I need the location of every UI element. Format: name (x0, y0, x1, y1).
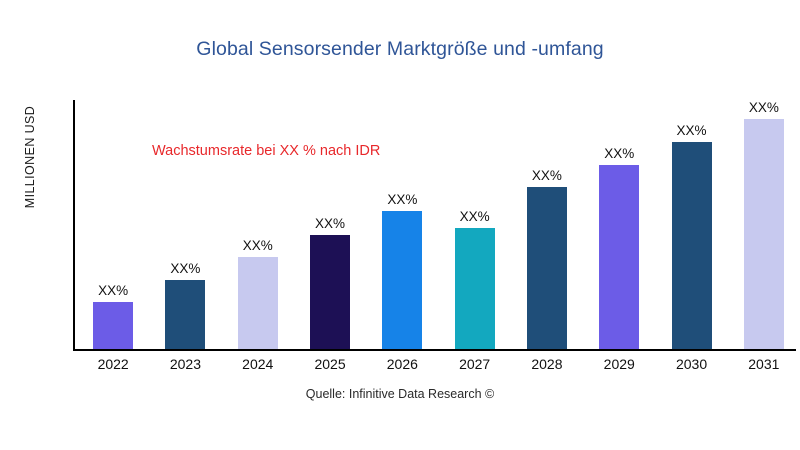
bar-value-label: XX% (460, 210, 490, 224)
bar-2031[interactable] (744, 119, 784, 349)
bar-2024[interactable] (238, 257, 278, 349)
x-tick-label-2026: 2026 (372, 356, 432, 372)
bar-2026[interactable] (382, 211, 422, 349)
chart-container: Global Sensorsender Marktgröße und -umfa… (0, 0, 800, 450)
bar-group[interactable]: XX% (382, 193, 422, 350)
bar-value-label: XX% (532, 169, 562, 183)
x-tick-label-2028: 2028 (517, 356, 577, 372)
source-caption: Quelle: Infinitive Data Research © (0, 387, 800, 401)
bar-2030[interactable] (672, 142, 712, 349)
bar-group[interactable]: XX% (238, 239, 278, 350)
bar-2025[interactable] (310, 235, 350, 349)
bar-value-label: XX% (98, 284, 128, 298)
bar-group[interactable]: XX% (599, 147, 639, 350)
bar-value-label: XX% (170, 262, 200, 276)
bar-group[interactable]: XX% (455, 210, 495, 350)
x-axis-line (73, 349, 796, 351)
bar-2022[interactable] (93, 302, 133, 349)
x-tick-label-2024: 2024 (228, 356, 288, 372)
bar-2028[interactable] (527, 187, 567, 349)
bar-value-label: XX% (387, 193, 417, 207)
bar-2023[interactable] (165, 280, 205, 349)
bar-value-label: XX% (677, 124, 707, 138)
bar-group[interactable]: XX% (744, 101, 784, 350)
growth-rate-annotation: Wachstumsrate bei XX % nach IDR (152, 143, 380, 159)
bar-value-label: XX% (243, 239, 273, 253)
x-tick-label-2025: 2025 (300, 356, 360, 372)
bar-group[interactable]: XX% (310, 217, 350, 350)
plot-area: XX%XX%XX%XX%XX%XX%XX%XX%XX%XX% (73, 100, 796, 351)
x-tick-label-2031: 2031 (734, 356, 794, 372)
x-tick-label-2029: 2029 (589, 356, 649, 372)
bar-group[interactable]: XX% (672, 124, 712, 350)
y-axis-label: MILLIONEN USD (23, 47, 37, 267)
bar-group[interactable]: XX% (93, 284, 133, 350)
x-tick-label-2027: 2027 (445, 356, 505, 372)
x-tick-label-2023: 2023 (155, 356, 215, 372)
bar-value-label: XX% (315, 217, 345, 231)
bar-group[interactable]: XX% (527, 169, 567, 350)
x-tick-label-2030: 2030 (662, 356, 722, 372)
bar-value-label: XX% (604, 147, 634, 161)
bar-value-label: XX% (749, 101, 779, 115)
bar-2029[interactable] (599, 165, 639, 349)
bar-group[interactable]: XX% (165, 262, 205, 350)
chart-title: Global Sensorsender Marktgröße und -umfa… (0, 38, 800, 61)
bar-2027[interactable] (455, 228, 495, 349)
x-tick-label-2022: 2022 (83, 356, 143, 372)
y-axis-line (73, 100, 75, 351)
